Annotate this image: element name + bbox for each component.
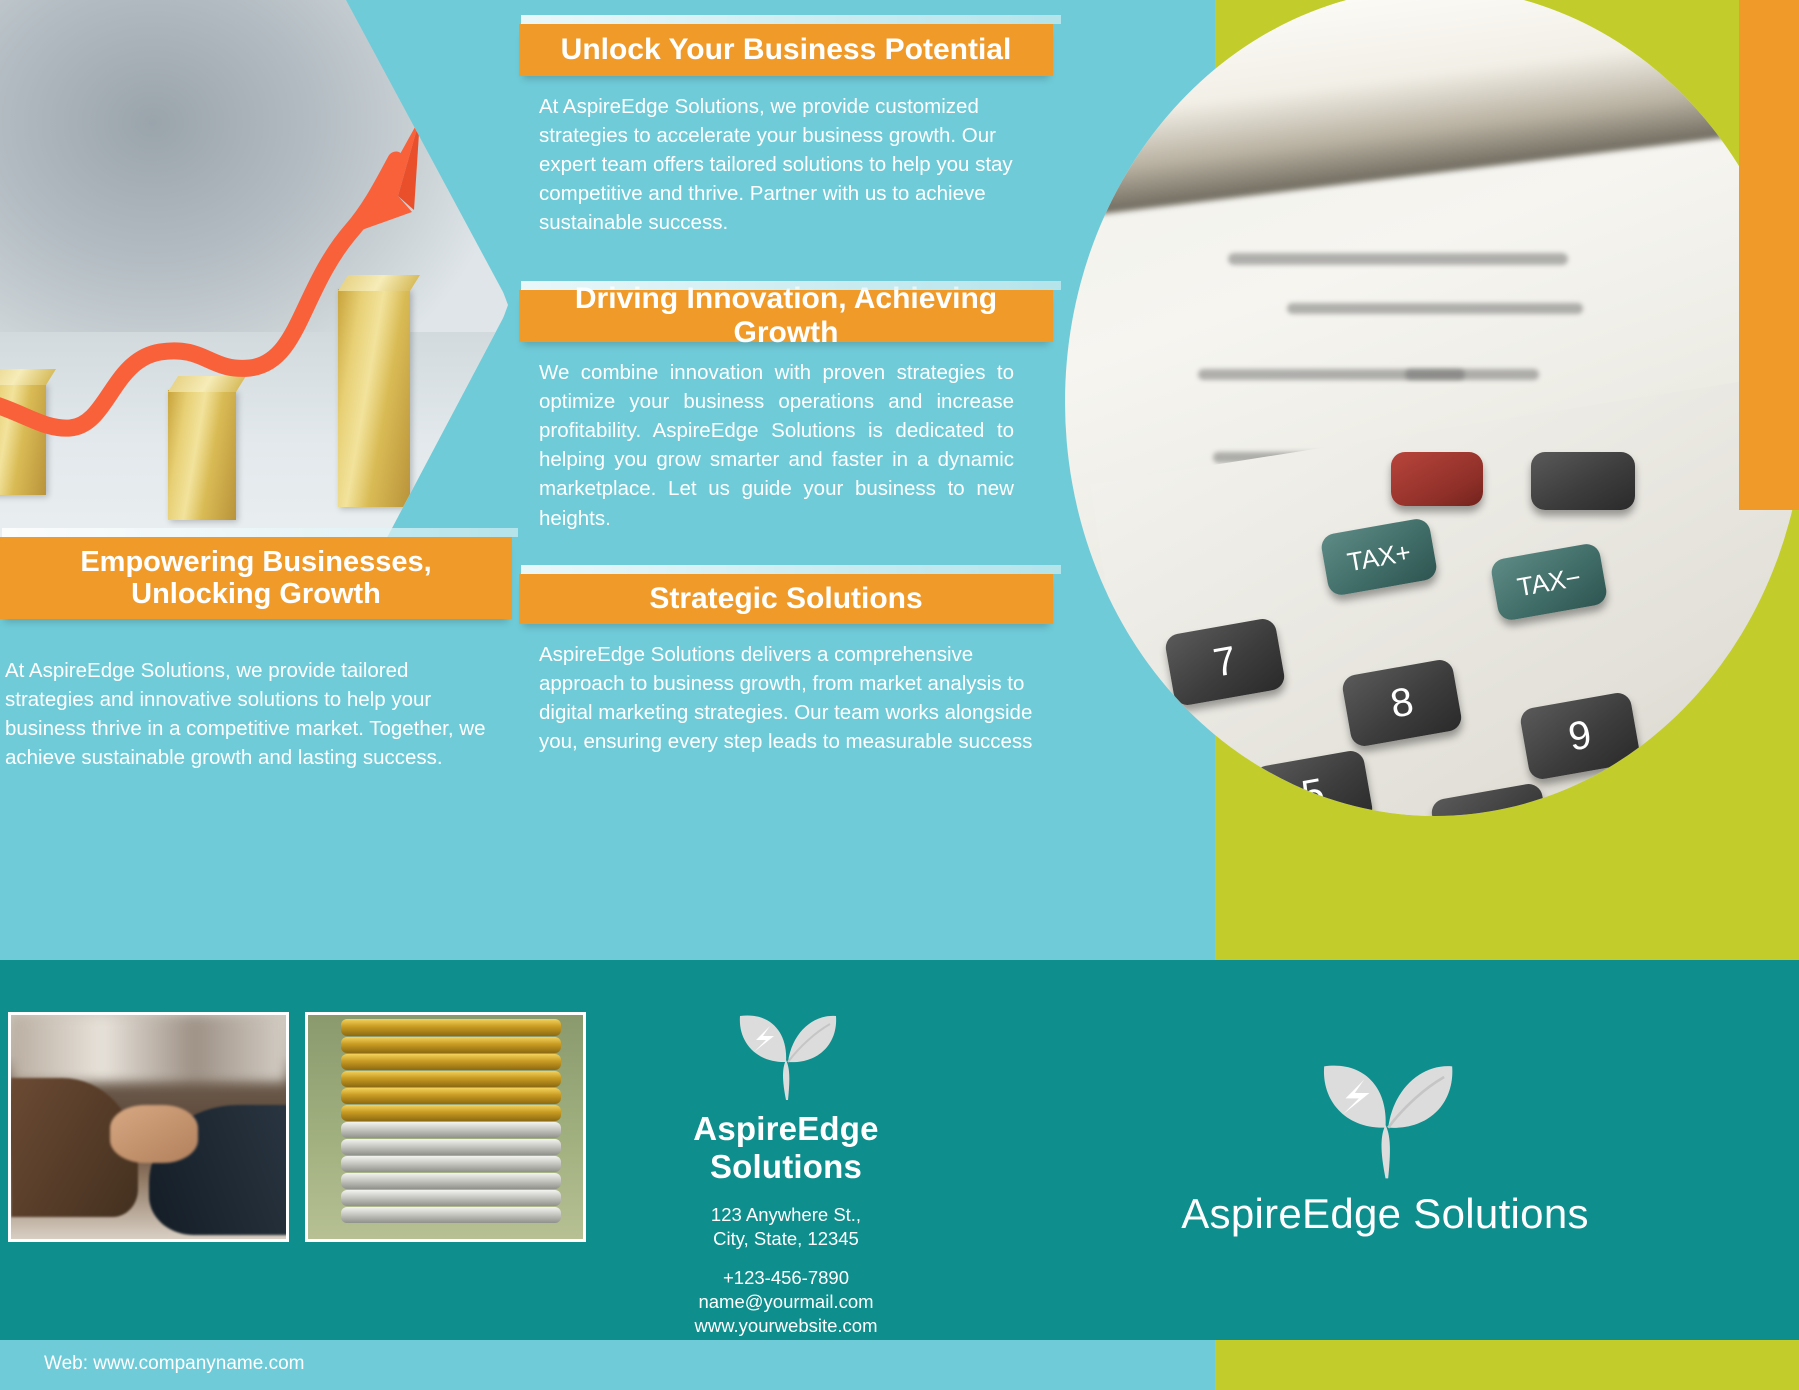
- footer-right-company-name: AspireEdge Solutions: [1105, 1190, 1665, 1238]
- bottom-bar-green: [1215, 1340, 1799, 1390]
- top-section: Unlock Your Business Potential At Aspire…: [0, 0, 1799, 960]
- sprout-leaf-lightning-icon: [1303, 1045, 1468, 1185]
- phone-number[interactable]: +123-456-7890: [631, 1266, 941, 1290]
- address-line-1: 123 Anywhere St.,: [631, 1203, 941, 1227]
- web-label[interactable]: Web: www.companyname.com: [44, 1353, 304, 1375]
- calculator-key-red: [1391, 452, 1483, 506]
- body-driving-innovation-achieving-growth: We combine innovation with proven strate…: [539, 358, 1014, 533]
- footer-right-logo-block: AspireEdge Solutions: [1105, 1045, 1665, 1238]
- body-strategic-solutions: AspireEdge Solutions delivers a comprehe…: [539, 640, 1049, 756]
- footer-contact-block: 123 Anywhere St., City, State, 12345 +12…: [631, 1203, 941, 1338]
- address-line-2: City, State, 12345: [631, 1227, 941, 1251]
- calculator-key-mrc: [1531, 452, 1635, 510]
- heading-driving-innovation-achieving-growth: Driving Innovation, Achieving Growth: [519, 290, 1053, 342]
- body-unlock-your-business-potential: At AspireEdge Solutions, we provide cust…: [539, 92, 1039, 238]
- orange-accent-stripe: [1739, 0, 1799, 510]
- sprout-leaf-lightning-icon: [726, 1000, 846, 1105]
- body-empowering-businesses-unlocking-growth: At AspireEdge Solutions, we provide tail…: [5, 656, 490, 772]
- footer-company-name: AspireEdge Solutions: [631, 1110, 941, 1186]
- handshake-photo: [8, 1012, 289, 1242]
- heading-strategic-solutions: Strategic Solutions: [519, 574, 1053, 624]
- brochure-page: Unlock Your Business Potential At Aspire…: [0, 0, 1799, 1390]
- heading-unlock-your-business-potential: Unlock Your Business Potential: [519, 24, 1053, 76]
- email-address[interactable]: name@yourmail.com: [631, 1290, 941, 1314]
- calculator-image: TAX+ TAX− 7 8 9 4 5 6: [1065, 0, 1799, 816]
- heading-empowering-businesses-unlocking-growth: Empowering Businesses, Unlocking Growth: [0, 537, 512, 619]
- website-url[interactable]: www.yourwebsite.com: [631, 1314, 941, 1338]
- footer-center-logo-block: AspireEdge Solutions 123 Anywhere St., C…: [631, 1000, 941, 1338]
- coins-photo: [305, 1012, 586, 1242]
